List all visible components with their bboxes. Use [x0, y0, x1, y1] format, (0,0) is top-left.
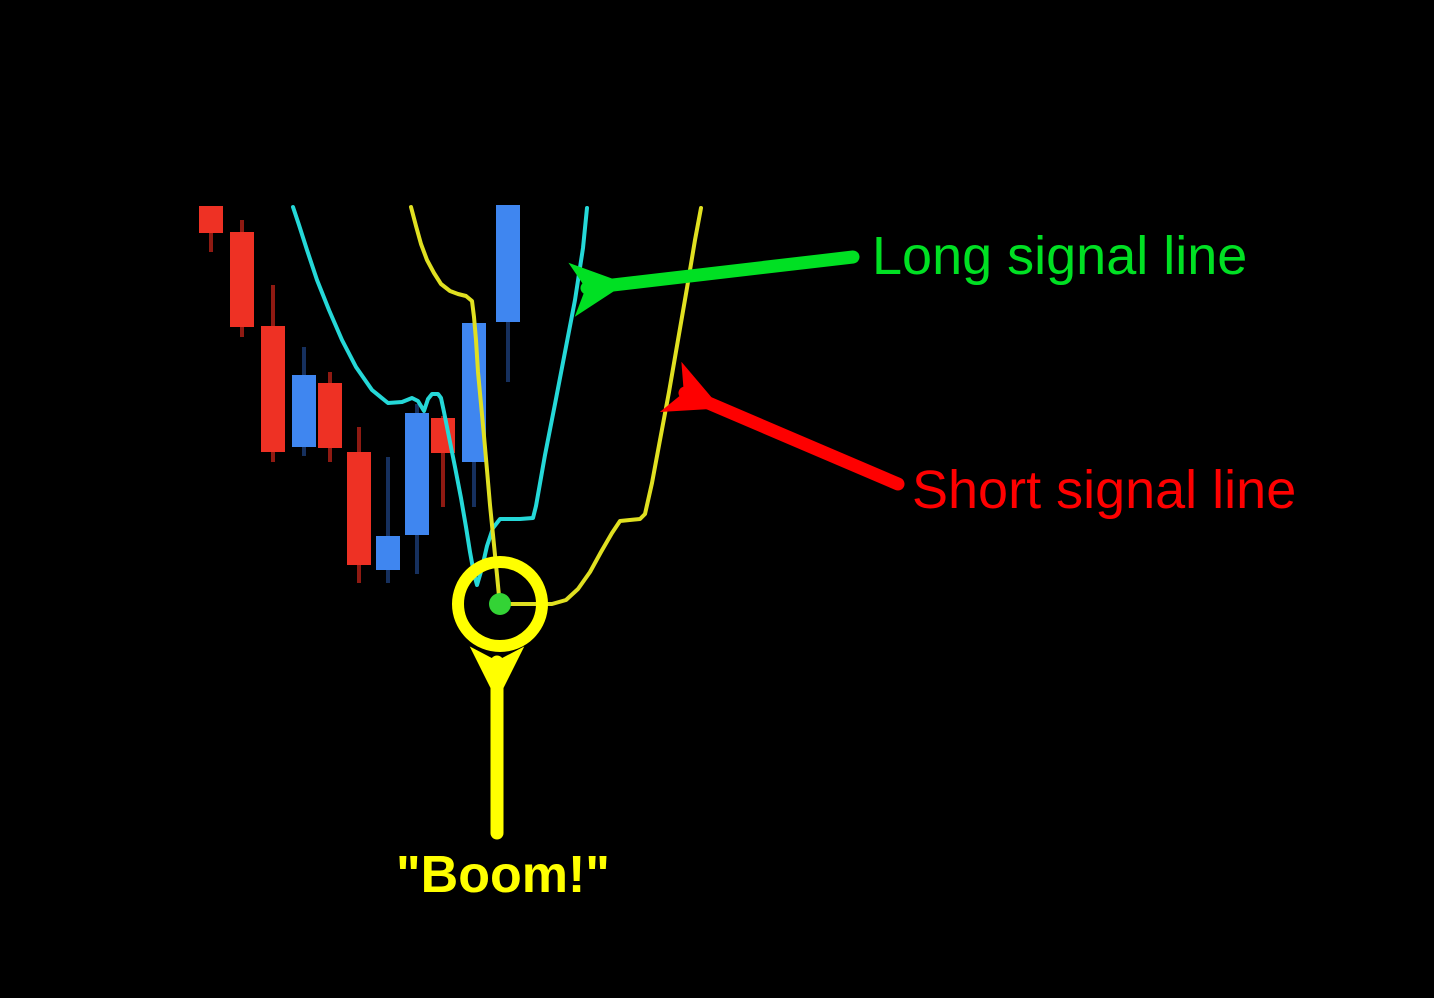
- candlestick-2: [230, 220, 254, 337]
- candle-body: [292, 375, 316, 447]
- candle-body: [230, 232, 254, 327]
- candle-body: [462, 323, 486, 462]
- candle-body: [199, 206, 223, 233]
- candle-body: [405, 413, 429, 535]
- candle-body: [376, 536, 400, 570]
- candle-body: [261, 326, 285, 452]
- candle-body: [347, 452, 371, 565]
- chart-canvas: Long signal line Short signal line "Boom…: [0, 0, 1434, 998]
- short-signal-line-label: Short signal line: [912, 463, 1296, 517]
- long-entry-signal-dot[interactable]: [489, 593, 511, 615]
- candle-body: [496, 205, 520, 322]
- candle-body: [318, 383, 342, 448]
- boom-callout-label: "Boom!": [396, 849, 610, 901]
- long-signal-line-label: Long signal line: [872, 229, 1247, 283]
